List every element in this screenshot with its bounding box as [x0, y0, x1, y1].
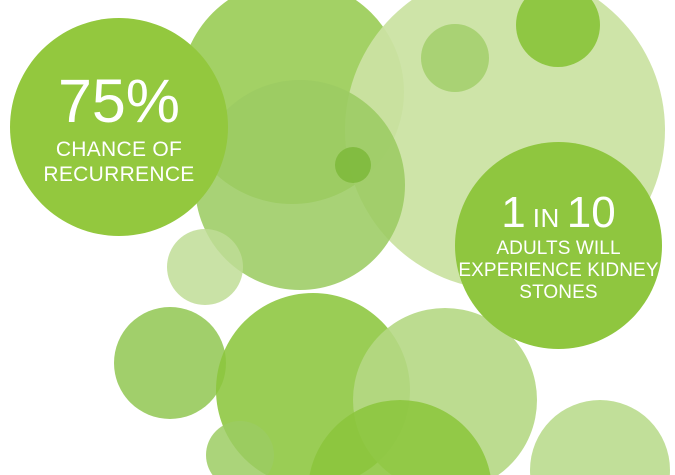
- decor-circle-mid-left-pale-dot: [167, 229, 243, 305]
- incidence-headline: 1 IN 10: [501, 191, 615, 235]
- incidence-numerator: 1: [501, 191, 525, 235]
- recurrence-headline: 75%: [58, 72, 180, 131]
- incidence-subline-3: STONES: [519, 282, 597, 304]
- stat-bubble-incidence: 1 IN 10 ADULTS WILL EXPERIENCE KIDNEY ST…: [455, 142, 662, 349]
- decor-circle-center-small-dot: [335, 147, 371, 183]
- stat-bubble-recurrence: 75% CHANCE OF RECURRENCE: [10, 18, 228, 236]
- incidence-connector: IN: [533, 205, 560, 231]
- infographic-canvas: 75% CHANCE OF RECURRENCE 1 IN 10 ADULTS …: [0, 0, 675, 475]
- incidence-subline-2: EXPERIENCE KIDNEY: [458, 260, 658, 282]
- incidence-subline-1: ADULTS WILL: [496, 238, 620, 260]
- decor-circle-upper-mid-dot: [421, 24, 489, 92]
- recurrence-subline-2: RECURRENCE: [43, 162, 194, 188]
- incidence-denominator: 10: [567, 191, 616, 235]
- decor-circle-right-edge-bottom: [530, 400, 670, 475]
- recurrence-subline-1: CHANCE OF: [56, 137, 182, 163]
- decor-circle-lower-left-medium: [114, 307, 226, 419]
